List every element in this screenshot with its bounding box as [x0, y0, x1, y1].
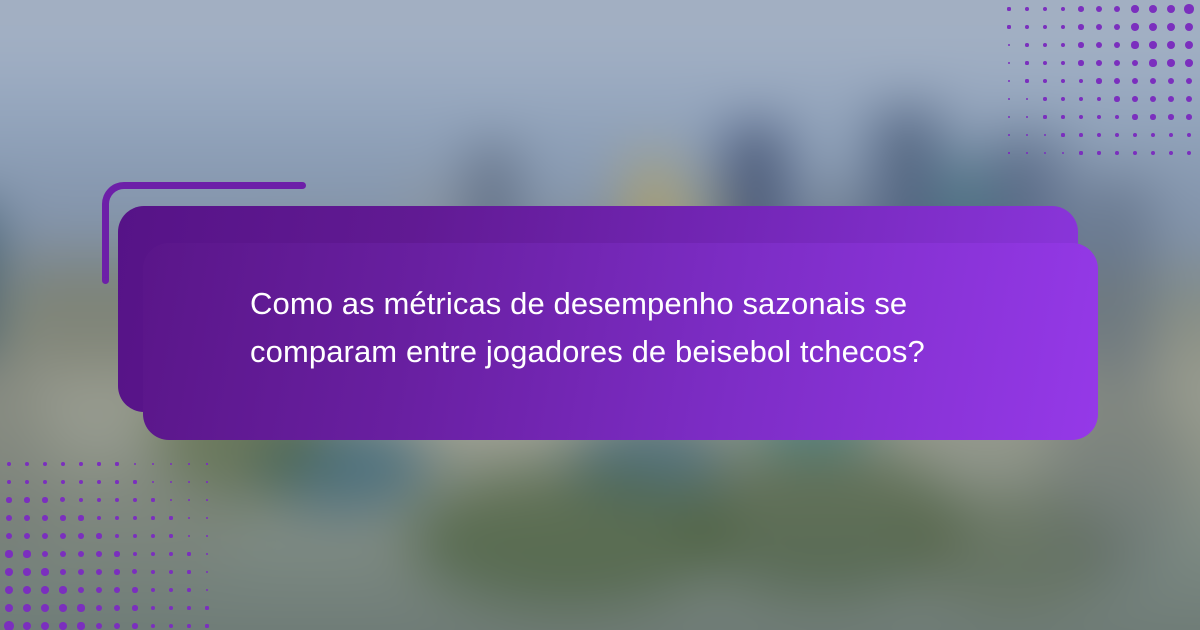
foreground-blob	[409, 469, 727, 607]
page-title: Como as métricas de desempenho sazonais …	[250, 280, 1010, 376]
headline-card: Como as métricas de desempenho sazonais …	[100, 182, 1110, 452]
social-card-stage: Como as métricas de desempenho sazonais …	[0, 0, 1200, 630]
